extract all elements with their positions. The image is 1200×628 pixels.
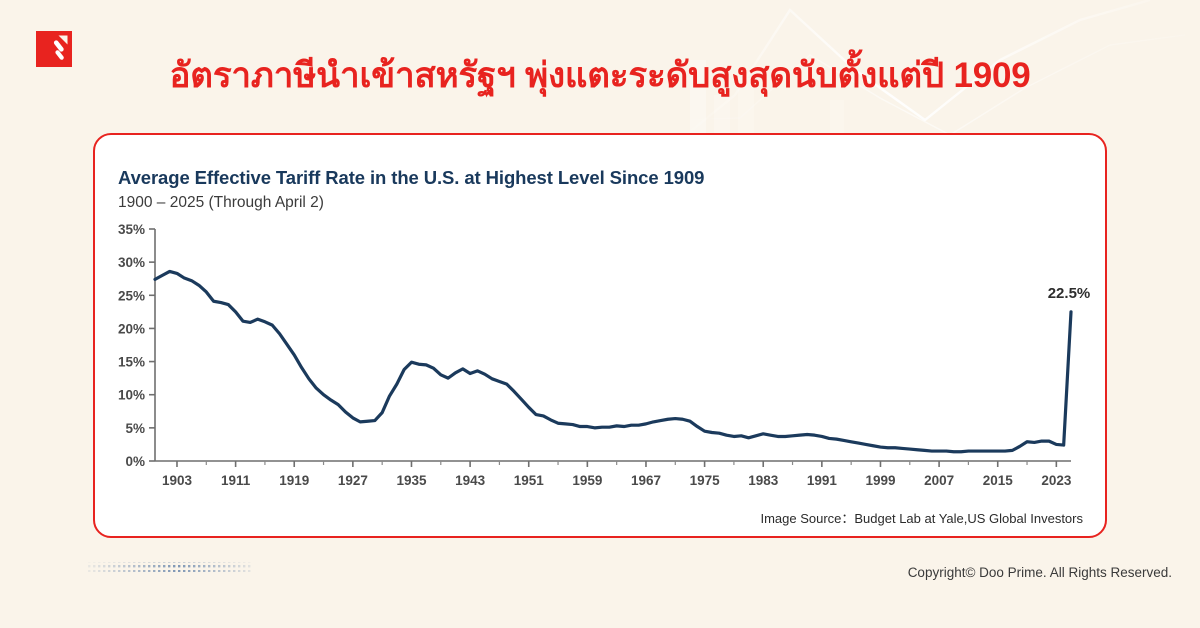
chart-title: Average Effective Tariff Rate in the U.S… (118, 167, 704, 189)
svg-text:1911: 1911 (221, 473, 251, 488)
svg-text:2023: 2023 (1041, 473, 1072, 488)
dotted-bar-decoration-icon (38, 560, 253, 586)
svg-text:1967: 1967 (631, 473, 661, 488)
image-source-caption: Image Source：Budget Lab at Yale,US Globa… (760, 508, 1083, 527)
infographic-root: อัตราภาษีนำเข้าสหรัฐฯ พุ่งแตะระดับสูงสุด… (0, 0, 1200, 628)
svg-text:10%: 10% (118, 388, 145, 403)
svg-text:30%: 30% (118, 255, 145, 270)
svg-text:1903: 1903 (162, 473, 193, 488)
svg-text:0%: 0% (125, 454, 145, 469)
svg-text:22.5%: 22.5% (1048, 285, 1091, 302)
svg-text:1999: 1999 (865, 473, 895, 488)
svg-text:1983: 1983 (748, 473, 779, 488)
svg-text:2015: 2015 (983, 473, 1014, 488)
svg-text:15%: 15% (118, 355, 145, 370)
svg-text:1951: 1951 (514, 473, 545, 488)
svg-text:35%: 35% (118, 223, 145, 237)
svg-text:1959: 1959 (572, 473, 602, 488)
svg-text:1991: 1991 (807, 473, 838, 488)
svg-text:1943: 1943 (455, 473, 486, 488)
copyright-notice: Copyright© Doo Prime. All Rights Reserve… (908, 565, 1172, 580)
svg-text:1935: 1935 (396, 473, 427, 488)
svg-text:20%: 20% (118, 321, 145, 336)
chart-card: Average Effective Tariff Rate in the U.S… (93, 133, 1107, 538)
svg-text:25%: 25% (118, 288, 145, 303)
svg-text:1927: 1927 (338, 473, 368, 488)
svg-text:1919: 1919 (279, 473, 309, 488)
chart-subtitle: 1900 – 2025 (Through April 2) (118, 194, 324, 212)
page-headline: อัตราภาษีนำเข้าสหรัฐฯ พุ่งแตะระดับสูงสุด… (0, 54, 1200, 98)
svg-text:1975: 1975 (690, 473, 721, 488)
svg-text:2007: 2007 (924, 473, 954, 488)
svg-text:5%: 5% (125, 421, 145, 436)
tariff-rate-line-chart: 0%5%10%15%20%25%30%35%190319111919192719… (103, 223, 1101, 498)
chart-plot-area: 0%5%10%15%20%25%30%35%190319111919192719… (103, 223, 1101, 498)
